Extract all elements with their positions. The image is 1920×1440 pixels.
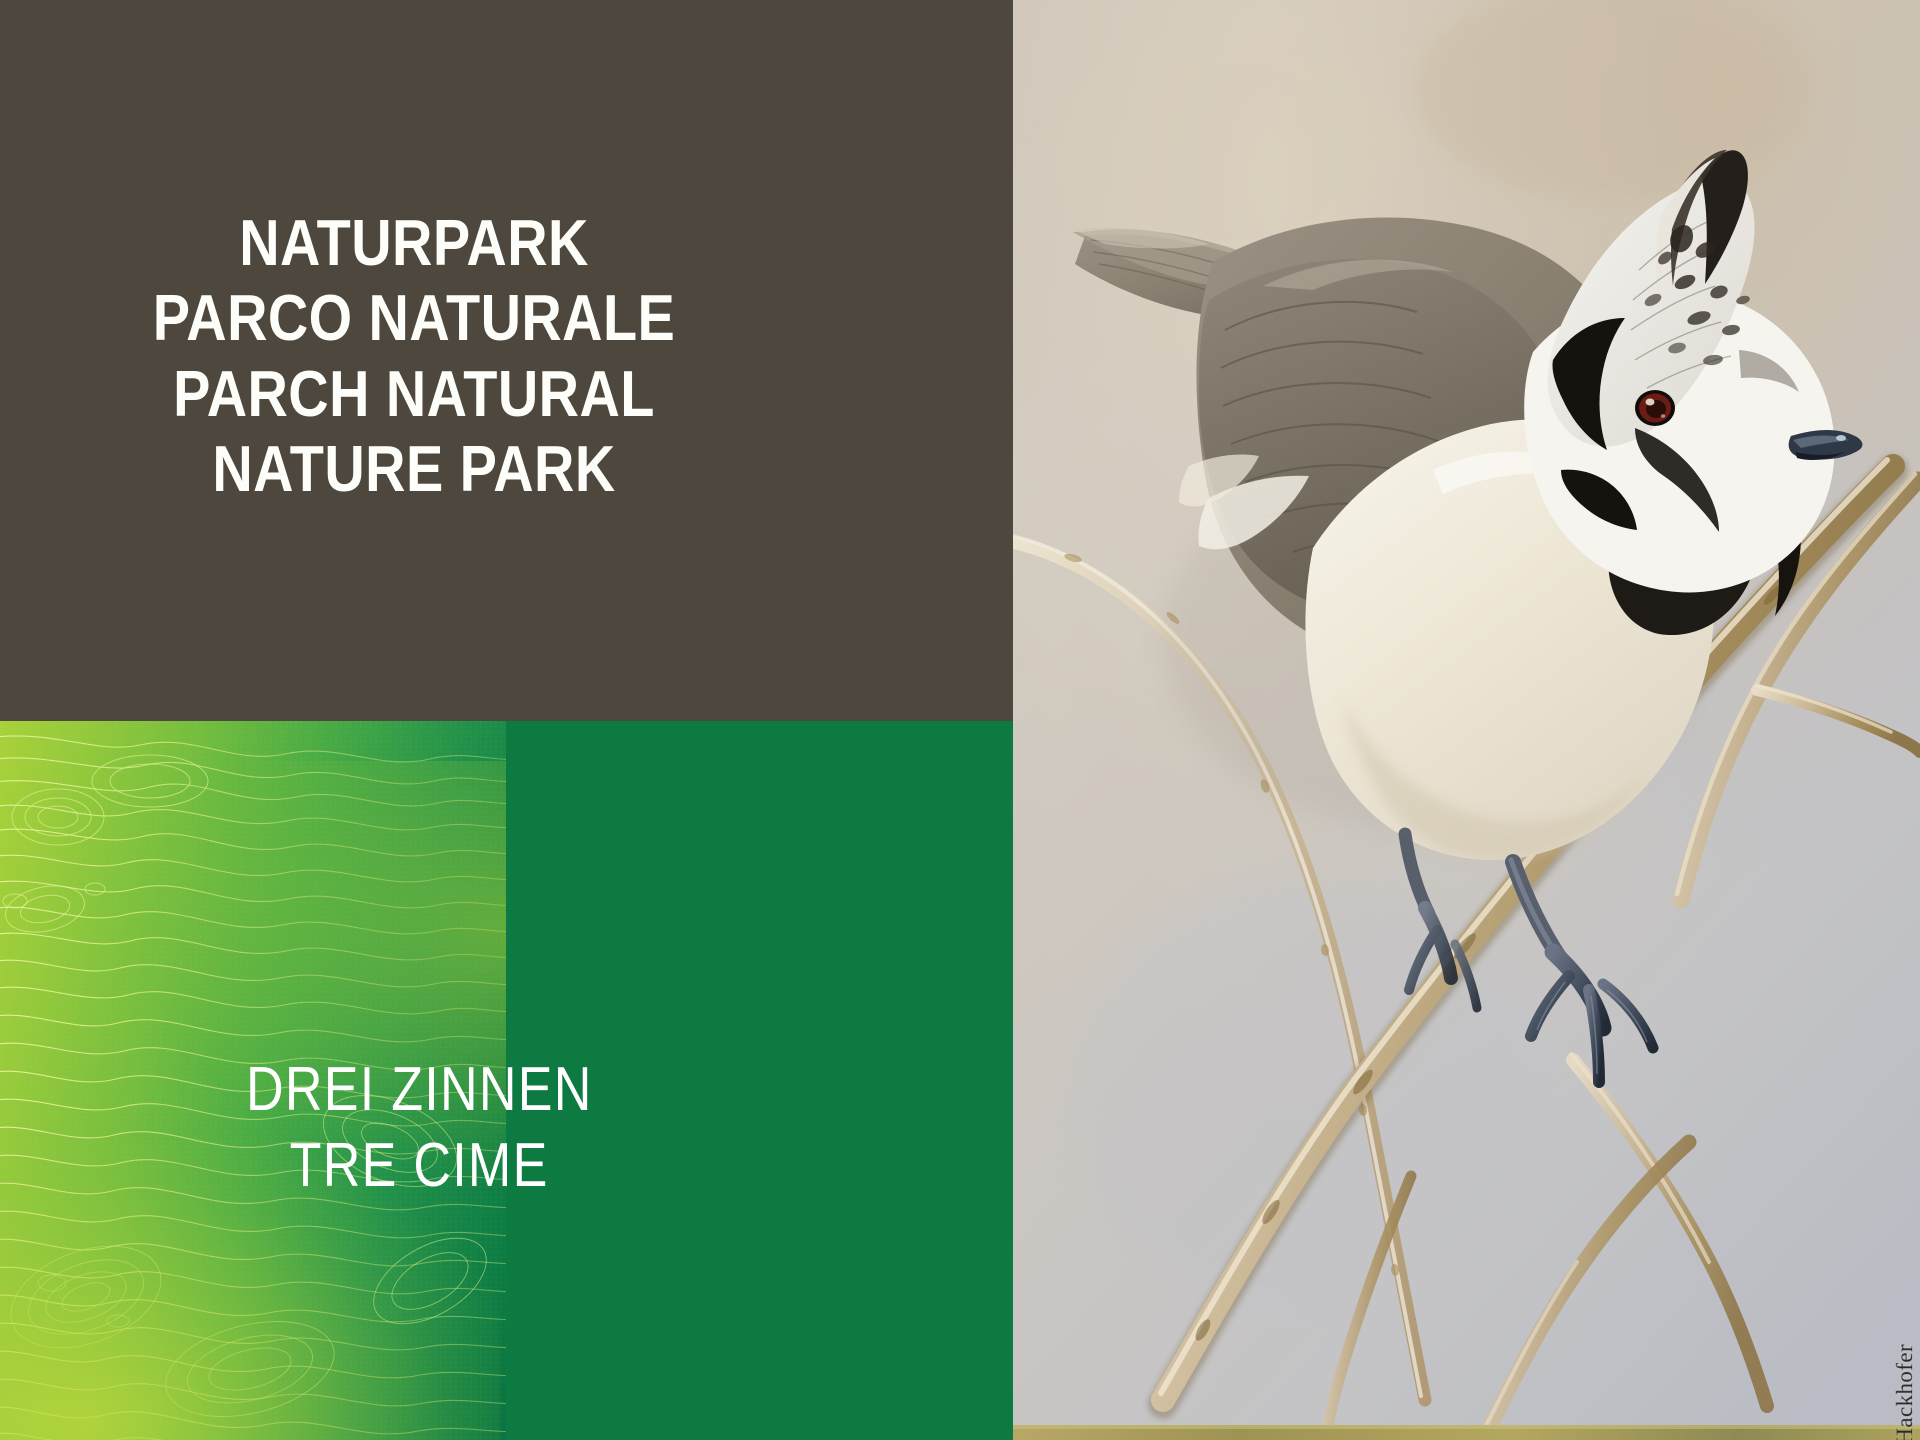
- title-line-en: NATURE PARK: [58, 431, 770, 506]
- title-stack: NATURPARK PARCO NATURALE PARCH NATURAL N…: [0, 205, 1013, 517]
- park-name-de: DREI ZINNEN: [246, 1052, 593, 1128]
- poster-root: NATURPARK PARCO NATURALE PARCH NATURAL N…: [0, 0, 1920, 1440]
- crested-tit-illustration: [1013, 0, 1920, 1440]
- title-line-lld: PARCH NATURAL: [58, 356, 770, 431]
- title-line-de: NATURPARK: [58, 205, 770, 280]
- photo-credit: Foto: Sepp Hackhofer: [1892, 1344, 1918, 1440]
- bird-photograph: Foto: Sepp Hackhofer: [1013, 0, 1920, 1440]
- title-line-it: PARCO NATURALE: [58, 280, 770, 355]
- park-name-block: DREI ZINNEN TRE CIME: [0, 721, 1013, 1440]
- green-park-block: DREI ZINNEN TRE CIME: [0, 721, 1013, 1440]
- park-name-it: TRE CIME: [290, 1128, 549, 1204]
- left-column: NATURPARK PARCO NATURALE PARCH NATURAL N…: [0, 0, 1013, 1440]
- brown-title-block: NATURPARK PARCO NATURALE PARCH NATURAL N…: [0, 0, 1013, 721]
